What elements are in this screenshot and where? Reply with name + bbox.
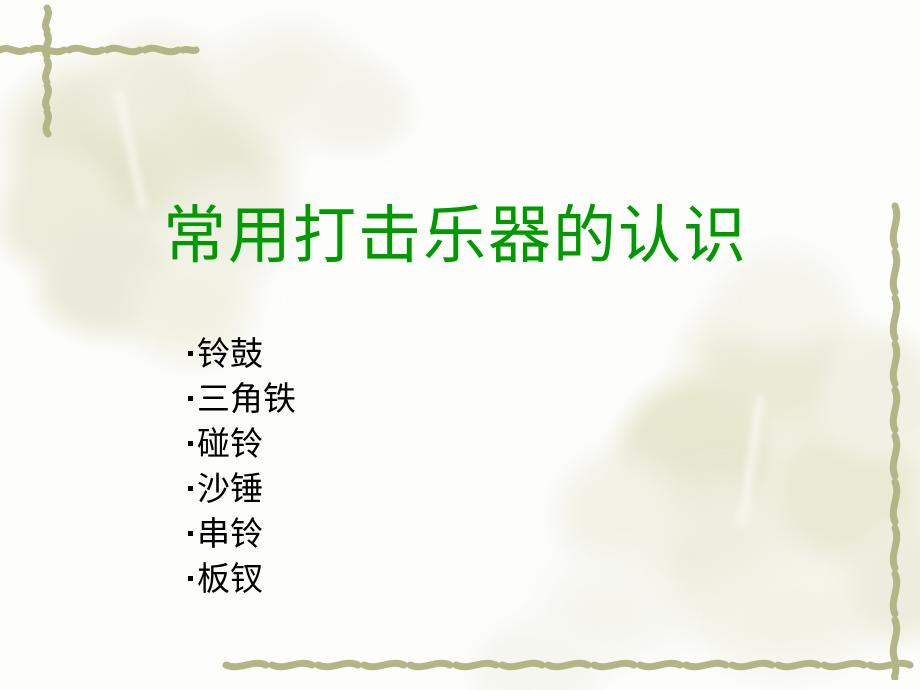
bamboo-corner-ornament-top-left (0, 0, 210, 150)
instrument-bullet-list: 铃鼓 三角铁 碰铃 沙锤 串铃 板钗 (188, 327, 296, 597)
bamboo-horizontal-rule-bottom (220, 648, 920, 682)
list-item-label: 三角铁 (197, 372, 296, 420)
slide-title: 常用打击乐器的认识 (163, 203, 748, 270)
bullet-marker-icon (188, 351, 193, 356)
watermark-shape (95, 35, 215, 145)
watermark-shape (215, 30, 355, 130)
watermark-stem (116, 91, 147, 210)
watermark-shape (845, 520, 920, 640)
watermark-shape (10, 70, 160, 200)
bullet-marker-icon (188, 531, 193, 536)
list-item-label: 碰铃 (197, 417, 263, 465)
watermark-shape (40, 215, 180, 335)
bullet-marker-icon (188, 486, 193, 491)
list-item[interactable]: 板钗 (188, 552, 296, 597)
list-item[interactable]: 串铃 (188, 507, 296, 552)
watermark-shape (0, 150, 120, 270)
watermark-shape (540, 560, 680, 660)
floral-watermark-background (0, 0, 920, 690)
list-item[interactable]: 铃鼓 (188, 327, 296, 372)
bamboo-vertical-rule-right (878, 200, 912, 680)
list-item[interactable]: 沙锤 (188, 462, 296, 507)
presentation-slide: 常用打击乐器的认识 铃鼓 三角铁 碰铃 沙锤 串铃 板钗 (0, 0, 920, 690)
list-item-label: 铃鼓 (197, 327, 263, 375)
watermark-shape (300, 60, 410, 150)
watermark-shape (760, 420, 920, 570)
watermark-shape (820, 330, 920, 460)
bullet-marker-icon (188, 441, 193, 446)
list-item[interactable]: 三角铁 (188, 372, 296, 417)
bullet-marker-icon (188, 576, 193, 581)
watermark-shape (615, 380, 775, 530)
watermark-stem (739, 395, 764, 525)
watermark-shape (700, 560, 870, 670)
list-item-label: 串铃 (197, 507, 263, 555)
watermark-shape (470, 620, 600, 690)
watermark-shape (690, 300, 860, 440)
watermark-shape (640, 480, 790, 620)
list-item[interactable]: 碰铃 (188, 417, 296, 462)
bullet-marker-icon (188, 396, 193, 401)
list-item-label: 板钗 (197, 552, 263, 600)
list-item-label: 沙锤 (197, 462, 263, 510)
watermark-shape (560, 455, 680, 565)
